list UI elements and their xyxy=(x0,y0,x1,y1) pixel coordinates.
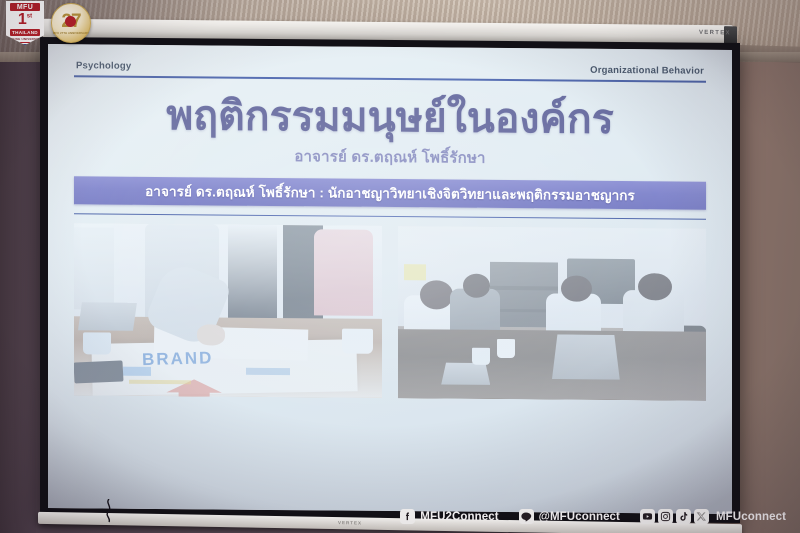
projector-screen-frame: Psychology Organizational Behavior พฤติก… xyxy=(40,37,740,523)
speaker-banner-text: อาจารย์ ดร.ตฤณห์ โพธิ์รักษา : นักอาชญาวิ… xyxy=(145,180,635,206)
x-icon[interactable] xyxy=(694,509,709,524)
social-shared-label: MFUconnect xyxy=(716,511,786,523)
mfu-badge-caption: YOUNG UNIVERSITY xyxy=(8,37,41,41)
social-media-bar: MFU2Connect @MFUconnect xyxy=(0,500,800,533)
slide-subtitle: อาจารย์ ดร.ตฤณห์ โพธิ์รักษา xyxy=(74,142,706,172)
mfu-rank-suffix: st xyxy=(27,14,32,20)
line-label: @MFUconnect xyxy=(539,511,620,523)
youtube-icon[interactable] xyxy=(640,509,655,524)
mfu-logo-overlay: MFU 1st THAILAND YOUNG UNIVERSITY 27 MFU… xyxy=(6,1,91,45)
mfu-org-label: MFU xyxy=(10,3,40,11)
screen-brand-label-top: VERTEX xyxy=(699,30,731,37)
projector-screen-unit: VERTEX Psychology Organizational Behavio… xyxy=(40,22,740,500)
room-wall-left-edge xyxy=(0,40,36,533)
mfu-rank-number: 1st xyxy=(18,12,32,28)
slide-photo-row: BRAND xyxy=(74,223,706,401)
speaker-banner: อาจารย์ ดร.ตฤณห์ โพธิ์รักษา : นักอาชญาวิ… xyxy=(74,176,706,210)
presentation-slide: Psychology Organizational Behavior พฤติก… xyxy=(48,44,732,514)
thai-flag-icon xyxy=(20,42,30,45)
social-item-facebook[interactable]: MFU2Connect xyxy=(400,509,498,524)
tiktok-icon[interactable] xyxy=(676,509,691,524)
mfu-rank-value: 1 xyxy=(18,11,27,28)
facebook-label: MFU2Connect xyxy=(420,511,498,523)
instagram-icon[interactable] xyxy=(658,509,673,524)
line-icon xyxy=(519,509,534,524)
slide-divider-rule xyxy=(74,213,706,220)
social-item-line[interactable]: @MFUconnect xyxy=(519,509,620,524)
brainstorm-table-photo: BRAND xyxy=(74,223,382,398)
team-meeting-photo xyxy=(398,226,706,401)
mfu-ranking-badge: MFU 1st THAILAND YOUNG UNIVERSITY xyxy=(6,1,44,45)
facebook-icon xyxy=(400,509,415,524)
mfu-country-label: THAILAND xyxy=(10,29,40,35)
slide-header-right: Organizational Behavior xyxy=(590,65,704,77)
social-icon-group xyxy=(640,509,709,524)
photo-right-projection-wash xyxy=(398,226,706,401)
slide-header-left: Psychology xyxy=(76,60,131,71)
projection-surface: Psychology Organizational Behavior พฤติก… xyxy=(48,44,732,514)
meeting-room-scene: VERTEX Psychology Organizational Behavio… xyxy=(0,0,800,533)
mfu-anniversary-badge: 27 MFU 27TH ANNIVERSARY xyxy=(51,3,91,43)
photo-left-projection-wash xyxy=(74,223,382,398)
anniversary-seal-icon xyxy=(65,16,76,27)
slide-title: พฤติกรรมมนุษย์ในองค์กร xyxy=(74,93,706,142)
anniversary-caption: MFU 27TH ANNIVERSARY xyxy=(53,32,89,35)
